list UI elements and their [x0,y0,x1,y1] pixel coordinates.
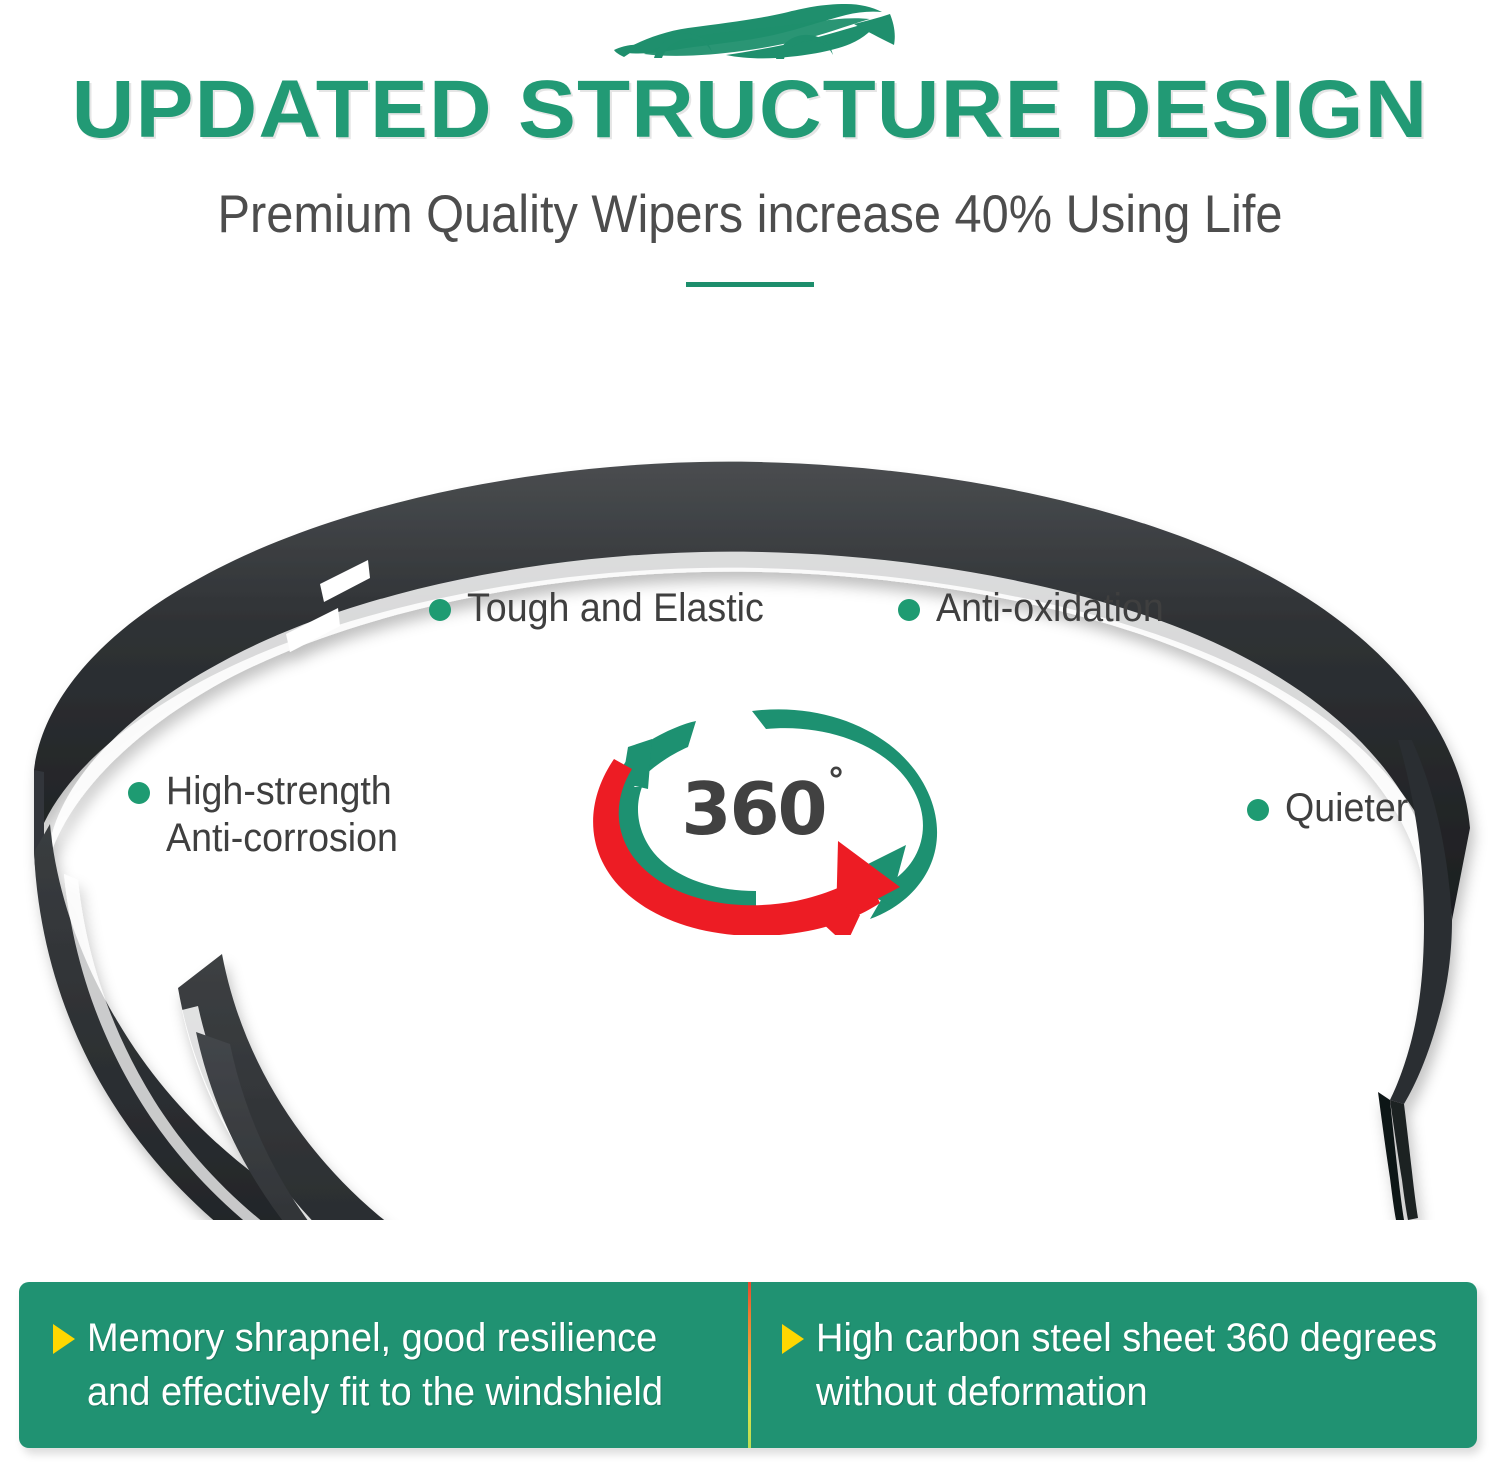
feature-callout-quieter: Quieter [1247,785,1416,832]
feature-label: Tough and Elastic [467,585,764,632]
highlight-bar-text: High carbon steel sheet 360 degrees with… [816,1311,1437,1419]
feature-label: Quieter [1285,785,1408,832]
bullet-dot-icon [1247,799,1269,821]
feature-callout-high-strength-anti-corrosion: High-strength Anti-corrosion [128,768,413,862]
feature-label: Anti-oxidation [936,585,1164,632]
product-infographic-page: UPDATED STRUCTURE DESIGN Premium Quality… [0,0,1500,1475]
page-subtitle: Premium Quality Wipers increase 40% Usin… [60,180,1440,250]
car-swoosh-logo-icon [608,2,908,64]
bullet-dot-icon [128,782,150,804]
page-title: UPDATED STRUCTURE DESIGN [0,62,1500,158]
feature-label: High-strength Anti-corrosion [166,768,398,862]
bullet-dot-icon [429,599,451,621]
highlight-bar-high-carbon-steel: High carbon steel sheet 360 degrees with… [748,1282,1477,1448]
triangle-marker-icon [53,1324,75,1354]
title-divider-rule [686,282,814,287]
feature-callout-tough-and-elastic: Tough and Elastic [429,585,783,632]
bottom-highlight-bars: Memory shrapnel, good resilience and eff… [19,1282,1477,1448]
360-degree-rotation-badge: 360 ° [570,695,970,935]
bullet-dot-icon [898,599,920,621]
highlight-bar-memory-shrapnel: Memory shrapnel, good resilience and eff… [19,1282,748,1448]
highlight-bar-text: Memory shrapnel, good resilience and eff… [87,1311,663,1419]
feature-callout-anti-oxidation: Anti-oxidation [898,585,1178,632]
triangle-marker-icon [782,1324,804,1354]
